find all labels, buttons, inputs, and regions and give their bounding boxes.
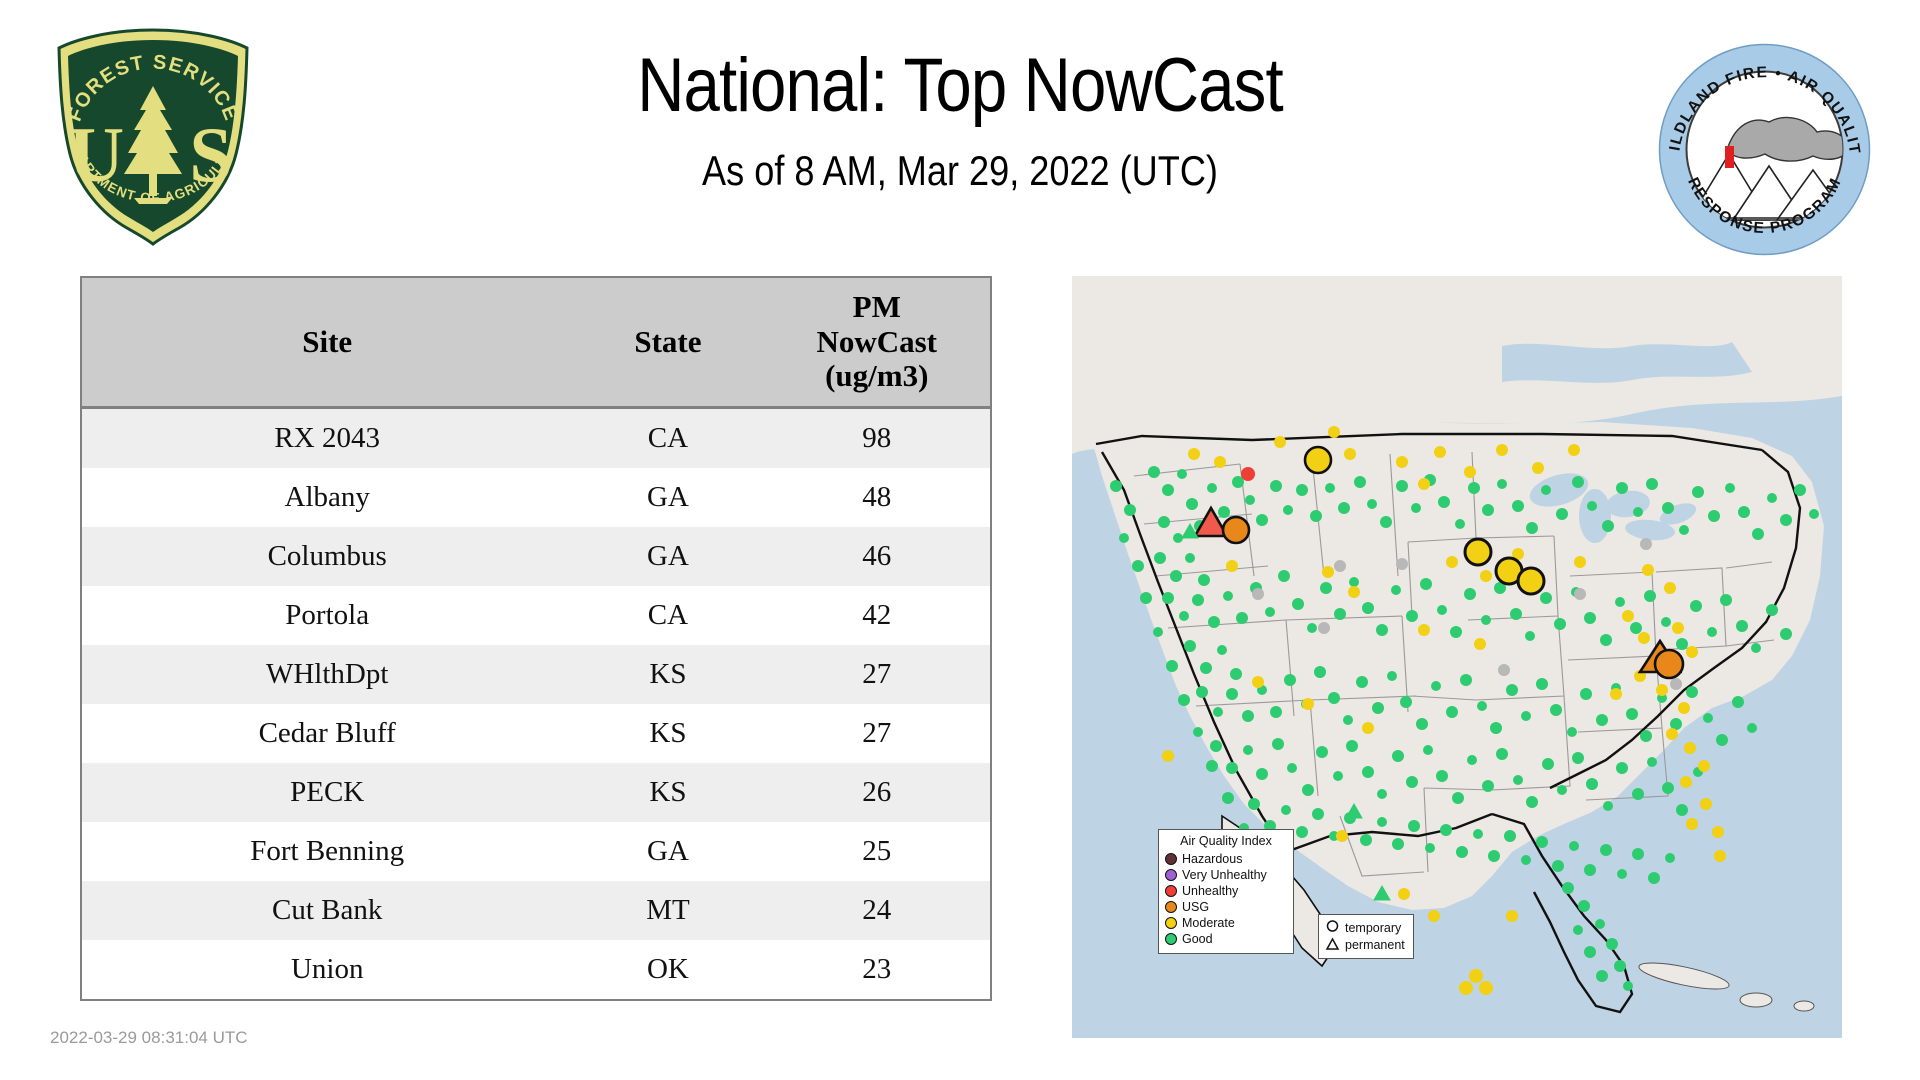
- legend-label-hazardous: Hazardous: [1182, 852, 1242, 866]
- pm-header-line-3: (ug/m3): [769, 359, 984, 394]
- column-header-site: Site: [81, 277, 572, 408]
- cell-pm: 98: [763, 408, 991, 469]
- cell-site: Union: [81, 940, 572, 1000]
- table-row: Albany GA 48: [81, 468, 991, 527]
- pm-header-line-1: PM: [769, 290, 984, 325]
- cell-state: GA: [572, 822, 763, 881]
- page-subtitle: As of 8 AM, Mar 29, 2022 (UTC): [392, 147, 1527, 195]
- legend-label-permanent: permanent: [1345, 938, 1405, 952]
- table-row: PECK KS 26: [81, 763, 991, 822]
- cell-state: CA: [572, 408, 763, 469]
- circle-outline-icon: [1325, 920, 1340, 935]
- pm-header-line-2: NowCast: [769, 325, 984, 360]
- legend-label-usg: USG: [1182, 900, 1209, 914]
- unhealthy-swatch-icon: [1165, 885, 1177, 897]
- legend-label-unhealthy: Unhealthy: [1182, 884, 1238, 898]
- cell-site: Cedar Bluff: [81, 704, 572, 763]
- cell-pm: 25: [763, 822, 991, 881]
- marker-albany-columbus-ga: [1655, 650, 1683, 678]
- title-block: National: Top NowCast As of 8 AM, Mar 29…: [300, 46, 1620, 195]
- cell-state: KS: [572, 645, 763, 704]
- cell-state: CA: [572, 586, 763, 645]
- cell-site: Columbus: [81, 527, 572, 586]
- legend-label-very-unhealthy: Very Unhealthy: [1182, 868, 1267, 882]
- footer-timestamp: 2022-03-29 08:31:04 UTC: [50, 1028, 248, 1048]
- slide-root: FOREST SERVICE DEPARTMENT OF AGRICULTURE…: [0, 0, 1920, 1080]
- cell-state: MT: [572, 881, 763, 940]
- top-nowcast-table-wrapper: Site State PM NowCast (ug/m3) RX 2043 CA…: [80, 276, 992, 1001]
- legend-label-good: Good: [1182, 932, 1213, 946]
- hazardous-swatch-icon: [1165, 853, 1177, 865]
- legend-item-very-unhealthy: Very Unhealthy: [1165, 867, 1287, 883]
- legend-label-temporary: temporary: [1345, 921, 1401, 935]
- marker-whlthdpt-ks: [1465, 539, 1491, 565]
- cell-pm: 48: [763, 468, 991, 527]
- legend-item-good: Good: [1165, 931, 1287, 947]
- site-type-legend: temporary permanent: [1318, 914, 1414, 959]
- legend-item-temporary: temporary: [1325, 919, 1405, 936]
- cell-site: Fort Benning: [81, 822, 572, 881]
- cell-site: Portola: [81, 586, 572, 645]
- page-title: National: Top NowCast: [392, 46, 1527, 125]
- usg-swatch-icon: [1165, 901, 1177, 913]
- good-swatch-icon: [1165, 933, 1177, 945]
- column-header-pm-nowcast: PM NowCast (ug/m3): [763, 277, 991, 408]
- marker-cut-bank-mt: [1305, 447, 1331, 473]
- cell-site: Albany: [81, 468, 572, 527]
- legend-item-usg: USG: [1165, 899, 1287, 915]
- table-row: Columbus GA 46: [81, 527, 991, 586]
- cell-site: Cut Bank: [81, 881, 572, 940]
- cell-pm: 27: [763, 704, 991, 763]
- table-row: Cedar Bluff KS 27: [81, 704, 991, 763]
- cell-pm: 23: [763, 940, 991, 1000]
- legend-item-permanent: permanent: [1325, 936, 1405, 953]
- very-unhealthy-swatch-icon: [1165, 869, 1177, 881]
- table-row: RX 2043 CA 98: [81, 408, 991, 469]
- cell-site: WHlthDpt: [81, 645, 572, 704]
- cell-site: PECK: [81, 763, 572, 822]
- aqi-monitor-map[interactable]: Air Quality Index Hazardous Very Unhealt…: [1072, 276, 1842, 1038]
- cell-state: GA: [572, 468, 763, 527]
- triangle-outline-icon: [1325, 937, 1340, 952]
- cell-state: KS: [572, 704, 763, 763]
- table-header-row: Site State PM NowCast (ug/m3): [81, 277, 991, 408]
- marker-portola-ca: [1223, 517, 1249, 543]
- cell-pm: 26: [763, 763, 991, 822]
- legend-label-moderate: Moderate: [1182, 916, 1235, 930]
- table-row: WHlthDpt KS 27: [81, 645, 991, 704]
- cell-site: RX 2043: [81, 408, 572, 469]
- legend-item-unhealthy: Unhealthy: [1165, 883, 1287, 899]
- aqi-legend: Air Quality Index Hazardous Very Unhealt…: [1158, 829, 1294, 954]
- cell-pm: 42: [763, 586, 991, 645]
- cell-pm: 27: [763, 645, 991, 704]
- top-nowcast-table: Site State PM NowCast (ug/m3) RX 2043 CA…: [80, 276, 992, 1001]
- table-row: Fort Benning GA 25: [81, 822, 991, 881]
- wfaqrp-logo: WILDLAND FIRE • AIR QUALITY RESPONSE PRO…: [1657, 42, 1872, 257]
- table-row: Portola CA 42: [81, 586, 991, 645]
- marker-peck-ks: [1518, 568, 1544, 594]
- column-header-state: State: [572, 277, 763, 408]
- moderate-swatch-icon: [1165, 917, 1177, 929]
- cell-state: OK: [572, 940, 763, 1000]
- cell-state: KS: [572, 763, 763, 822]
- usfs-shield-logo: FOREST SERVICE DEPARTMENT OF AGRICULTURE…: [48, 26, 258, 246]
- usfs-letter-s: S: [189, 111, 232, 198]
- legend-item-moderate: Moderate: [1165, 915, 1287, 931]
- cell-state: GA: [572, 527, 763, 586]
- table-row: Cut Bank MT 24: [81, 881, 991, 940]
- table-row: Union OK 23: [81, 940, 991, 1000]
- aqi-legend-title: Air Quality Index: [1165, 834, 1287, 848]
- legend-item-hazardous: Hazardous: [1165, 851, 1287, 867]
- usfs-letter-u: U: [68, 111, 124, 198]
- unhealthy-monitors: [1241, 467, 1255, 481]
- cell-pm: 24: [763, 881, 991, 940]
- cell-pm: 46: [763, 527, 991, 586]
- table-body: RX 2043 CA 98 Albany GA 48 Columbus GA 4…: [81, 408, 991, 1001]
